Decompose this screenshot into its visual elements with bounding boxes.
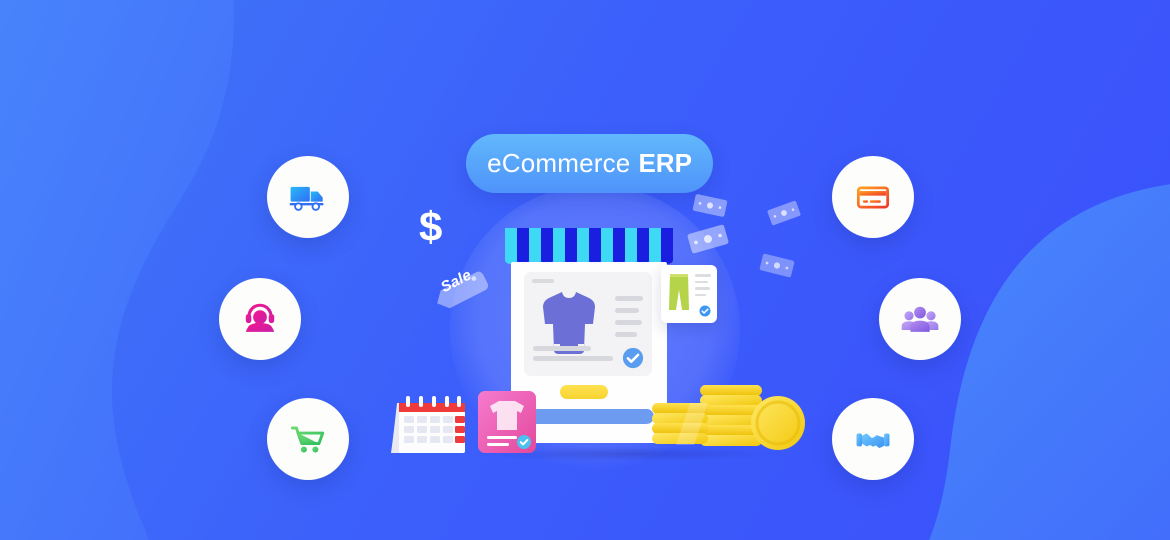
pants-illustration [668, 272, 690, 312]
handshake-icon [851, 417, 895, 461]
people-group-icon [898, 297, 942, 341]
check-badge-icon [699, 305, 711, 317]
banknote-icon [758, 252, 796, 279]
feature-icon-support[interactable] [219, 278, 301, 360]
calendar-icon [389, 391, 471, 457]
feature-icon-partner[interactable] [832, 398, 914, 480]
page-title-bold: ERP [638, 148, 691, 179]
page-title-light: eCommerce [487, 148, 630, 179]
shopping-cart-icon [286, 417, 330, 461]
product-card-tag [532, 279, 554, 283]
check-badge-icon [622, 347, 644, 369]
credit-card-icon [851, 175, 895, 219]
banknote-icon [766, 199, 802, 227]
background-wave-left [0, 0, 440, 540]
buy-button[interactable] [560, 385, 608, 399]
product-card[interactable] [524, 272, 652, 376]
hero-illustration: eCommerce ERP [0, 0, 1170, 540]
secondary-product-card[interactable] [661, 265, 717, 323]
feature-icon-cart[interactable] [267, 398, 349, 480]
sale-tag: Sale [430, 264, 496, 312]
dollar-sign-icon: $ [419, 206, 442, 248]
customer-support-headset-icon [238, 297, 282, 341]
delivery-truck-icon [286, 175, 330, 219]
secondary-card-lines [695, 274, 711, 300]
feature-icon-crm[interactable] [879, 278, 961, 360]
feature-icon-shipping[interactable] [267, 156, 349, 238]
coin-stack-icon [650, 375, 815, 455]
search-bar[interactable] [527, 409, 654, 424]
banknote-icon [691, 193, 728, 219]
tshirt-card-icon [478, 391, 536, 453]
title-pill: eCommerce ERP [466, 134, 713, 193]
product-card-detail-lines [615, 296, 643, 344]
product-card-footer-lines [533, 346, 613, 366]
awning [505, 228, 673, 266]
feature-icon-payment[interactable] [832, 156, 914, 238]
